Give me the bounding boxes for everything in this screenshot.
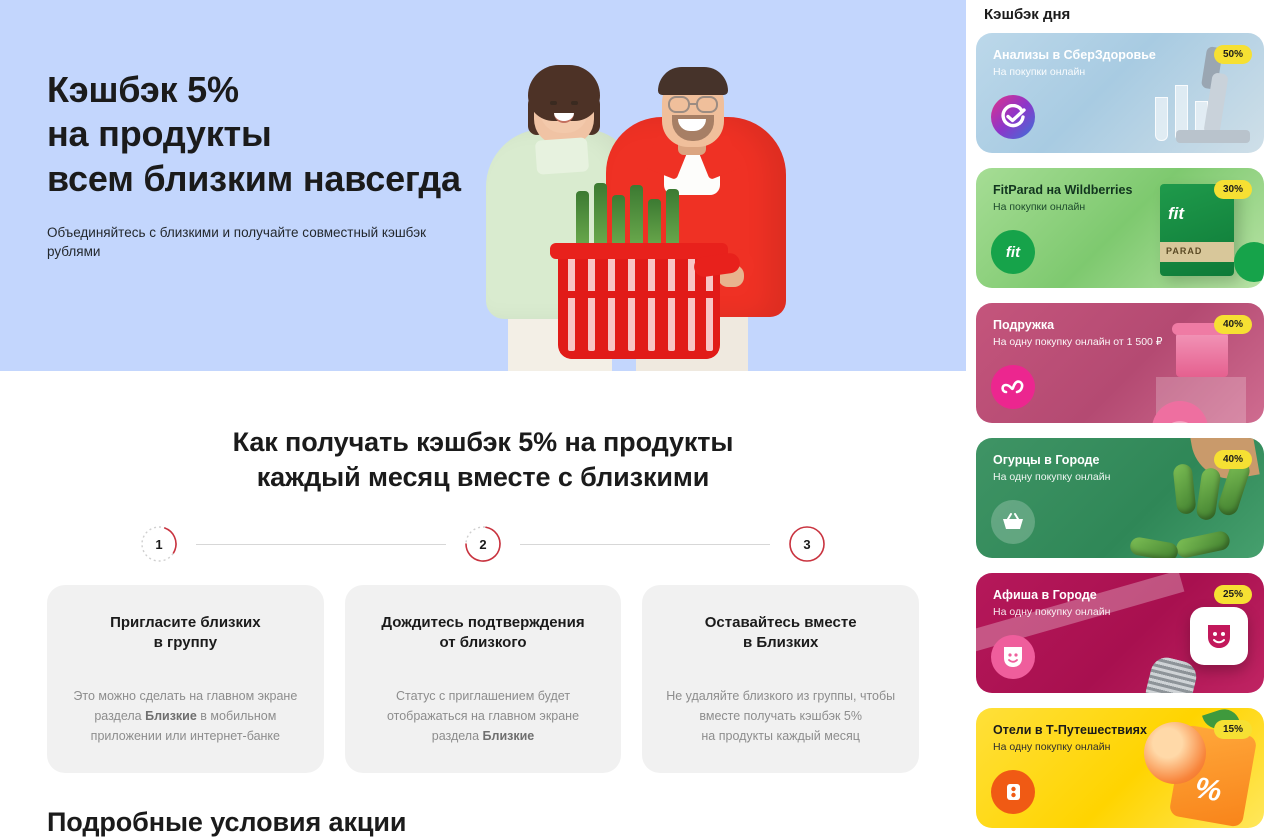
step-card-title-2: Дождитесь подтверждения от близкого [367,613,600,654]
step-number-3: 3 [788,525,826,563]
step-card-title-1: Пригласите близких в группу [69,613,302,654]
podruzhka-bow-icon [991,365,1035,409]
basket-icon [991,500,1035,544]
terms-title: Подробные условия акции [47,807,919,838]
sidebar-title: Кэшбэк дня [976,0,1264,33]
step-card-text-3: Не удаляйте близкого из группы, чтобы вм… [664,666,897,747]
steps-progress-rail: 1 2 3 [140,525,826,563]
step-card-1: Пригласите близких в группу Это можно сд… [47,585,324,773]
promo-name: Подружка [993,318,1054,332]
promo-name: Огурцы в Городе [993,453,1099,467]
rail-connector-1 [196,544,446,545]
promo-badge: 25% [1214,585,1252,604]
promo-name: Анализы в СберЗдоровье [993,48,1156,62]
promo-condition: На покупки онлайн [993,66,1085,78]
step-card-2: Дождитесь подтверждения от близкого Стат… [345,585,622,773]
main-content-column: Кэшбэк 5% на продукты всем близким навсе… [0,0,966,840]
step-indicator-1: 1 [140,525,178,563]
promo-card-sberzdorovie[interactable]: Анализы в СберЗдоровье На покупки онлайн… [976,33,1264,153]
hero-couple-photo [450,31,870,371]
step-text-emphasis: Близкие [145,709,197,723]
promo-condition: На одну покупку онлайн от 1 500 ₽ [993,336,1163,348]
promo-condition: На одну покупку онлайн [993,606,1110,618]
step-number-2: 2 [464,525,502,563]
step-text-part-a: Не удаляйте близкого из группы, чтобы вм… [666,689,895,744]
hero-text-block: Кэшбэк 5% на продукты всем близким навсе… [47,68,517,262]
rail-connector-2 [520,544,770,545]
step-number-1: 1 [140,525,178,563]
promo-card-oteli[interactable]: % Отели в Т-Путешествиях На одну покупку… [976,708,1264,828]
step-card-title-3: Оставайтесь вместе в Близких [664,613,897,654]
step-card-text-1: Это можно сделать на главном экране разд… [69,666,302,747]
promo-card-podruzhka[interactable]: Подружка На одну покупку онлайн от 1 500… [976,303,1264,423]
promo-badge: 40% [1214,450,1252,469]
how-it-works-title: Как получать кэшбэк 5% на продукты кажды… [47,425,919,495]
cashback-of-the-day-sidebar: Кэшбэк дня Анализы в СберЗдоровье На пок… [966,0,1280,840]
promo-landing-page: Кэшбэк 5% на продукты всем близким навсе… [0,0,1280,840]
promo-name: FitParad на Wildberries [993,183,1132,197]
promo-badge: 40% [1214,315,1252,334]
terms-section: Подробные условия акции Срок действия ак… [0,773,966,840]
promo-badge: 15% [1214,720,1252,739]
step-card-text-2: Статус с приглашением будет отображаться… [367,666,600,747]
promo-badge: 50% [1214,45,1252,64]
hero-title: Кэшбэк 5% на продукты всем близким навсе… [47,68,517,201]
steps-cards-row: Пригласите близких в группу Это можно сд… [47,585,919,773]
promo-card-afisha[interactable]: Афиша в Городе На одну покупку онлайн 25… [976,573,1264,693]
step-card-3: Оставайтесь вместе в Близких Не удаляйте… [642,585,919,773]
promo-name: Отели в Т-Путешествиях [993,723,1147,737]
hero-banner: Кэшбэк 5% на продукты всем близким навсе… [0,0,966,371]
luggage-tag-icon [991,770,1035,814]
promo-card-ogurcy[interactable]: Огурцы в Городе На одну покупку онлайн 4… [976,438,1264,558]
promo-condition: На одну покупку онлайн [993,741,1110,753]
theatre-mask-icon [991,635,1035,679]
sber-check-icon [991,95,1035,139]
how-it-works-section: Как получать кэшбэк 5% на продукты кажды… [0,371,966,773]
promo-badge: 30% [1214,180,1252,199]
fit-parad-icon: fit [991,230,1035,274]
step-text-emphasis: Близкие [483,729,535,743]
promo-card-fitparad[interactable]: fit PARAD FitParad на Wildberries На пок… [976,168,1264,288]
step-indicator-2: 2 [464,525,502,563]
promo-condition: На одну покупку онлайн [993,471,1110,483]
promo-condition: На покупки онлайн [993,201,1085,213]
promo-name: Афиша в Городе [993,588,1097,602]
hero-subtitle: Объединяйтесь с близкими и получайте сов… [47,223,467,262]
step-indicator-3: 3 [788,525,826,563]
